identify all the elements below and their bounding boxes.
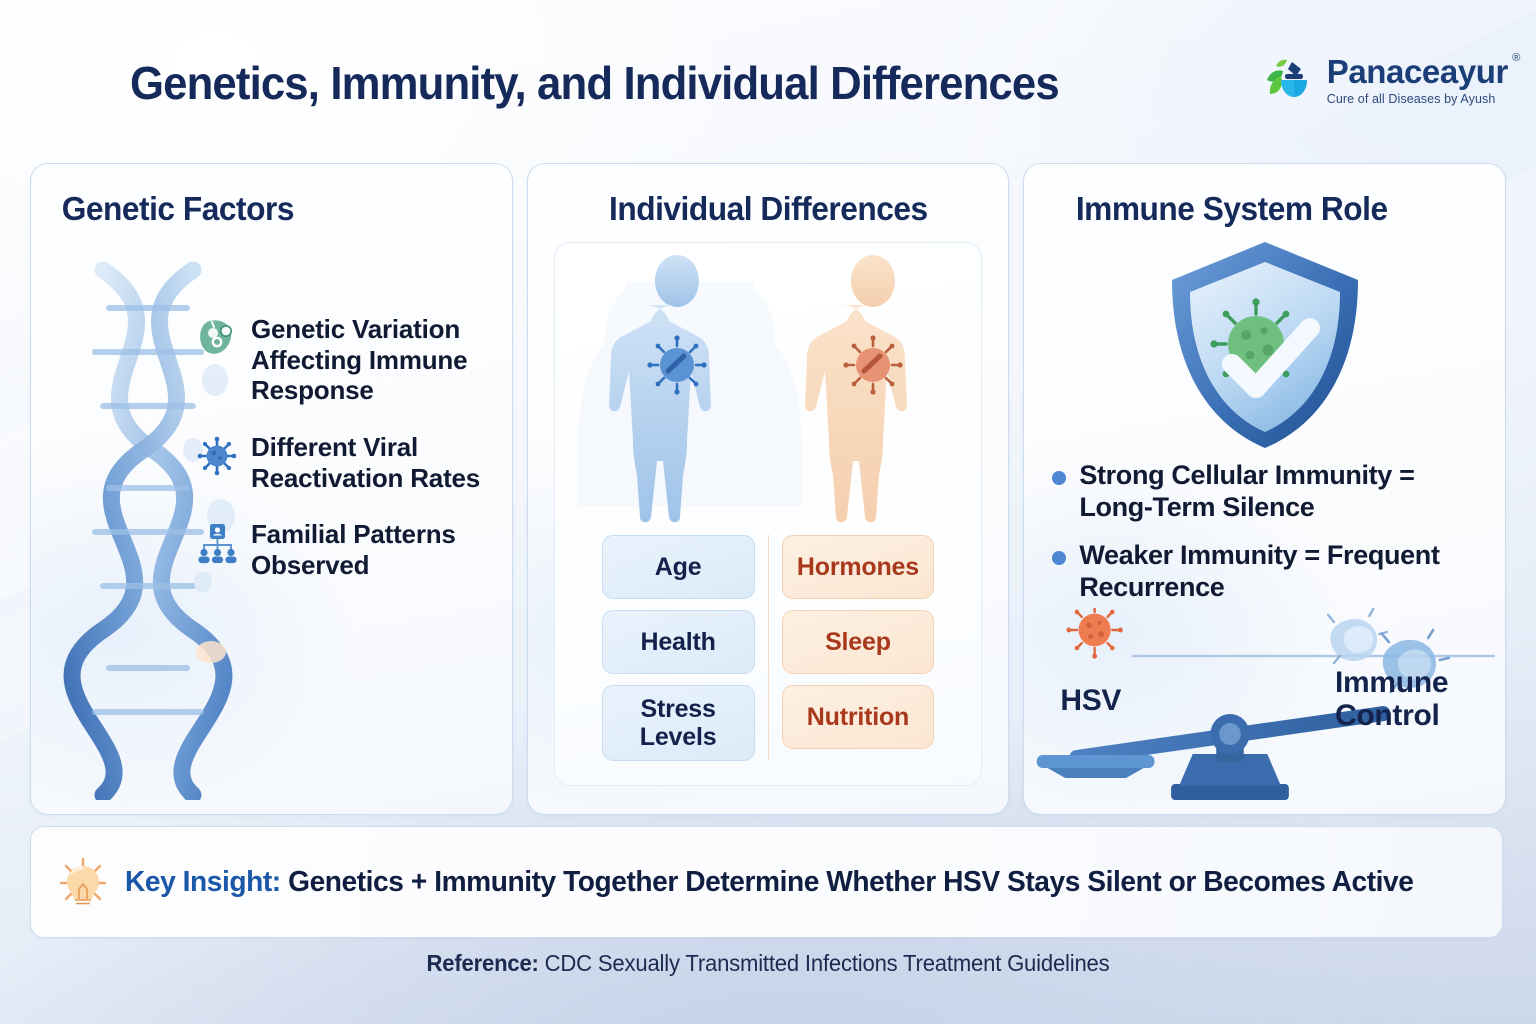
- panel-title-genetic-factors: Genetic Factors: [41, 190, 502, 228]
- two-human-body-silhouettes-illustration: [555, 253, 983, 523]
- factor-tag-hormones[interactable]: Hormones: [782, 535, 935, 599]
- list-item-label: Strong Cellular Immunity = Long-Term Sil…: [1079, 460, 1489, 524]
- registered-mark: ®: [1512, 53, 1520, 64]
- panel-row: Genetic Factors: [30, 163, 1506, 815]
- reference-line: Reference: CDC Sexually Transmitted Infe…: [31, 950, 1506, 977]
- factor-tag-nutrition[interactable]: Nutrition: [782, 685, 935, 749]
- factor-tag-grid: Age Health Stress Levels Hormones Sleep …: [589, 535, 948, 761]
- factor-tag-stress-levels[interactable]: Stress Levels: [602, 685, 755, 761]
- virus-particle-icon: [195, 434, 239, 478]
- factor-tag-health[interactable]: Health: [602, 610, 755, 674]
- genetic-bullet-list: Genetic Variation Affecting Immune Respo…: [195, 314, 513, 607]
- panel-genetic-factors: Genetic Factors: [30, 163, 513, 815]
- panel-title-individual-differences: Individual Differences: [537, 190, 998, 228]
- factor-tag-column-blue: Age Health Stress Levels: [589, 535, 769, 761]
- list-item-label: Weaker Immunity = Frequent Recurrence: [1079, 540, 1489, 604]
- bullet-dot-icon: [1052, 471, 1066, 485]
- list-item: Familial Patterns Observed: [195, 519, 513, 580]
- reference-text: CDC Sexually Transmitted Infections Trea…: [545, 950, 1110, 976]
- list-item-label: Genetic Variation Affecting Immune Respo…: [251, 314, 513, 406]
- scale-label-immune-control: Immune Control: [1335, 666, 1495, 732]
- key-insight-text: Key Insight: Genetics + Immunity Togethe…: [125, 863, 1413, 902]
- bullet-dot-icon: [1052, 551, 1066, 565]
- panel-individual-differences: Individual Differences: [527, 163, 1010, 815]
- factor-tag-sleep[interactable]: Sleep: [782, 610, 935, 674]
- key-insight-bar: Key Insight: Genetics + Immunity Togethe…: [30, 826, 1503, 938]
- infographic-canvas: Genetics, Immunity, and Individual Diffe…: [0, 0, 1536, 1024]
- header: Genetics, Immunity, and Individual Diffe…: [0, 0, 1536, 152]
- list-item-label: Different Viral Reactivation Rates: [251, 432, 513, 493]
- shield-with-virus-and-checkmark-icon: [1160, 236, 1370, 454]
- list-item: Genetic Variation Affecting Immune Respo…: [195, 314, 513, 406]
- individual-differences-card: Age Health Stress Levels Hormones Sleep …: [554, 242, 983, 786]
- brand-logo: Panaceayur ® Cure of all Diseases by Ayu…: [1261, 52, 1508, 108]
- mortar-pestle-leaf-logo-icon: [1261, 52, 1317, 108]
- list-item: Weaker Immunity = Frequent Recurrence: [1052, 540, 1489, 604]
- logo-name: Panaceayur ®: [1327, 55, 1508, 88]
- list-item-label: Familial Patterns Observed: [251, 519, 513, 580]
- scale-label-hsv: HSV: [1060, 684, 1121, 717]
- logo-name-text: Panaceayur: [1327, 53, 1508, 90]
- key-insight-body: Genetics + Immunity Together Determine W…: [288, 866, 1413, 898]
- body-silhouette-peach: [805, 255, 907, 522]
- immune-bullet-list: Strong Cellular Immunity = Long-Term Sil…: [1052, 460, 1489, 619]
- list-item: Different Viral Reactivation Rates: [195, 432, 513, 493]
- page-title: Genetics, Immunity, and Individual Diffe…: [130, 56, 1059, 110]
- factor-tag-column-orange: Hormones Sleep Nutrition: [769, 535, 948, 761]
- family-network-icon: [195, 521, 239, 565]
- shield-illustration-wrap: [1024, 236, 1505, 454]
- list-item: Strong Cellular Immunity = Long-Term Sil…: [1052, 460, 1489, 524]
- logo-tagline: Cure of all Diseases by Ayush: [1327, 93, 1508, 106]
- panel-title-immune-system-role: Immune System Role: [1034, 190, 1495, 228]
- virus-orange-icon: [1067, 608, 1123, 659]
- balance-scale-illustration: HSV Immune Control: [1024, 608, 1505, 808]
- lightbulb-icon: [57, 856, 109, 908]
- reference-label: Reference:: [427, 950, 539, 976]
- panel-immune-system-role: Immune System Role: [1023, 163, 1506, 815]
- logo-text-block: Panaceayur ® Cure of all Diseases by Ayu…: [1327, 55, 1508, 106]
- cell-membrane-icon: [195, 316, 239, 360]
- key-insight-label: Key Insight:: [125, 866, 281, 898]
- factor-tag-age[interactable]: Age: [602, 535, 755, 599]
